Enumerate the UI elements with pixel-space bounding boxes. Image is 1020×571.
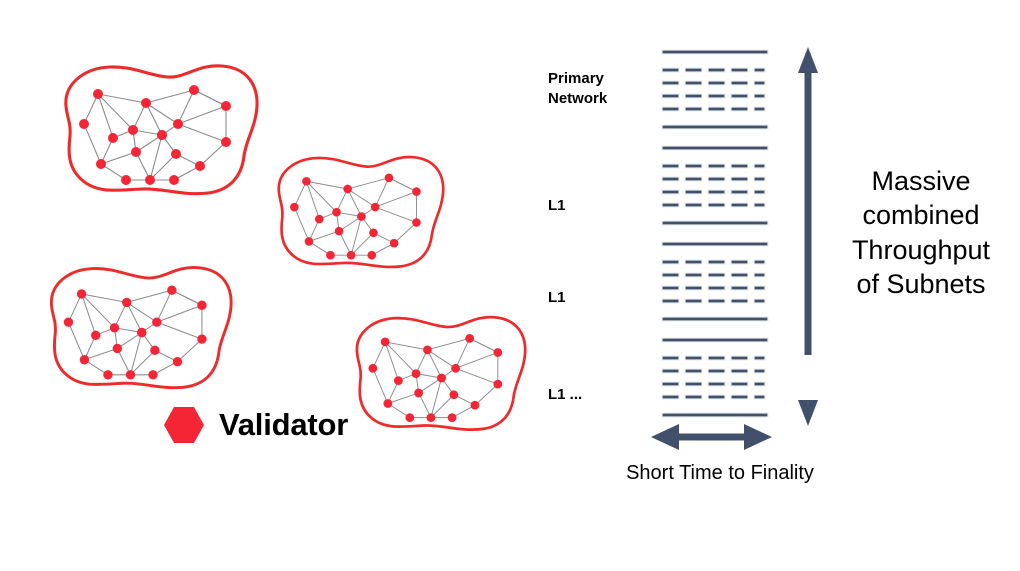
stack-label-l1-c: L1 ... bbox=[548, 385, 582, 405]
stack-label-l1-a: L1 bbox=[548, 196, 566, 216]
stack-label-l1-b: L1 bbox=[548, 288, 566, 308]
finality-arrow bbox=[651, 424, 772, 450]
subnet-block-primary-network[interactable] bbox=[662, 50, 768, 129]
stack-label-primary-network: Primary Network bbox=[548, 69, 607, 110]
diagram-canvas: Validator bbox=[0, 0, 1020, 571]
throughput-arrow bbox=[798, 47, 818, 426]
finality-caption: Short Time to Finality bbox=[600, 462, 840, 485]
throughput-caption: Massive combined Throughput of Subnets bbox=[826, 164, 1016, 301]
subnet-block-l1-a[interactable] bbox=[662, 146, 768, 225]
subnet-block-l1-c[interactable] bbox=[662, 338, 768, 417]
subnet-block-l1-b[interactable] bbox=[662, 242, 768, 321]
